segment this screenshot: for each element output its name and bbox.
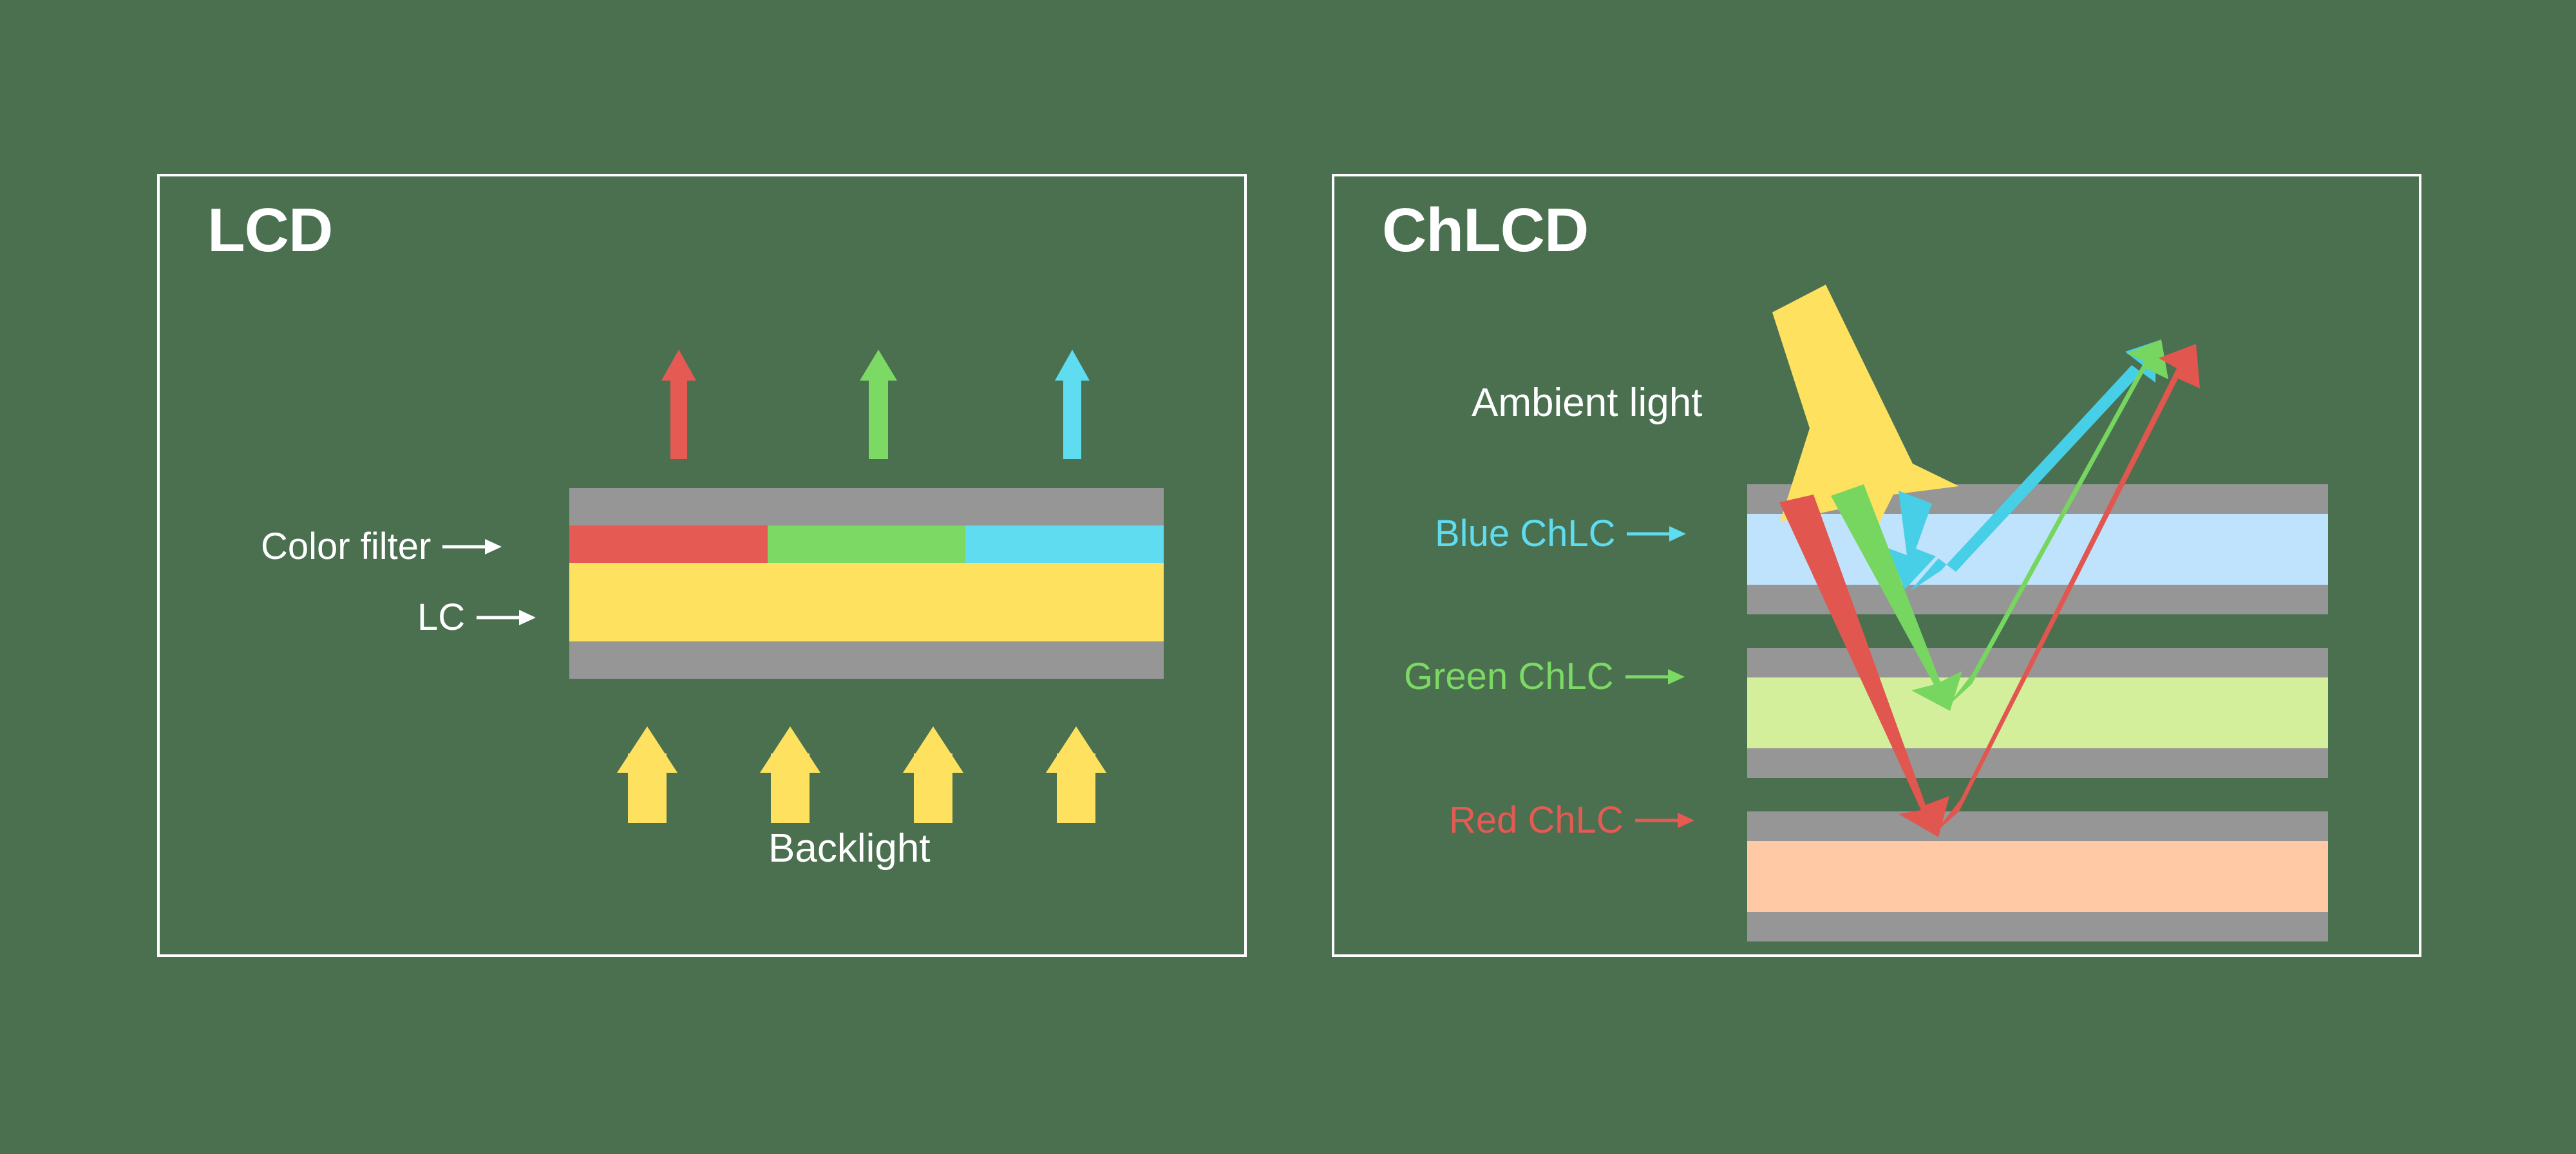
- label-red-chlc-text: Red ChLC: [1449, 802, 1624, 839]
- arrow-line: [477, 616, 519, 620]
- blue-chlc-layer: [1747, 514, 2328, 585]
- label-color-filter: Color filter: [261, 528, 502, 565]
- electrode-bottom: [1747, 585, 2328, 614]
- pointer-arrow-icon: [1625, 671, 1685, 683]
- panel-title-lcd: LCD: [207, 200, 332, 261]
- label-blue-chlc: Blue ChLC: [1435, 515, 1686, 553]
- electrode-top: [1747, 484, 2328, 514]
- backlight-arrow: [1046, 726, 1106, 823]
- arrow-shaft: [628, 753, 667, 823]
- chlcd-cell-green: [1747, 648, 2328, 778]
- pointer-arrow-icon: [1635, 815, 1694, 826]
- backlight-arrow: [617, 726, 677, 823]
- arrow-line: [1625, 676, 1668, 679]
- arrow-line: [1627, 533, 1669, 536]
- arrow-head-icon: [1678, 813, 1694, 828]
- label-red-chlc: Red ChLC: [1449, 802, 1694, 839]
- arrow-line: [1635, 819, 1678, 822]
- label-backlight: Backlight: [768, 826, 931, 871]
- arrow-shaft: [670, 378, 687, 459]
- arrow-head-icon: [860, 350, 897, 381]
- arrow-shaft: [1057, 753, 1095, 823]
- label-lc-text: LC: [417, 599, 465, 636]
- electrode-top: [1747, 648, 2328, 677]
- green-chlc-layer: [1747, 677, 2328, 748]
- pointer-arrow-icon: [442, 541, 502, 553]
- chlcd-cell-blue: [1747, 484, 2328, 614]
- panel-title-chlcd: ChLCD: [1382, 200, 1588, 261]
- label-color-filter-text: Color filter: [261, 528, 431, 565]
- electrode-top: [1747, 811, 2328, 841]
- arrow-head-icon: [1055, 350, 1090, 381]
- color-filter-blue-segment: [965, 525, 1164, 563]
- lcd-layer-stack: [569, 488, 1164, 679]
- label-green-chlc: Green ChLC: [1404, 658, 1685, 695]
- lcd-color-filter-layer: [569, 525, 1164, 563]
- chlcd-layer-stack: [1747, 484, 2328, 864]
- lcd-liquid-crystal-layer: [569, 563, 1164, 641]
- color-filter-green-segment: [768, 525, 966, 563]
- emitted-red-light-arrow: [661, 350, 696, 459]
- arrow-shaft: [1063, 378, 1081, 459]
- pointer-arrow-icon: [1627, 528, 1686, 540]
- lcd-top-electrode-layer: [569, 488, 1164, 525]
- label-lc: LC: [417, 599, 536, 636]
- label-ambient-light: Ambient light: [1472, 380, 1702, 426]
- backlight-arrow: [760, 726, 820, 823]
- chlcd-cell-red: [1747, 811, 2328, 941]
- arrow-head-icon: [519, 610, 536, 625]
- arrow-shaft: [771, 753, 810, 823]
- arrow-shaft: [914, 753, 952, 823]
- arrow-head-icon: [485, 539, 502, 554]
- color-filter-red-segment: [569, 525, 768, 563]
- electrode-bottom: [1747, 748, 2328, 778]
- label-green-chlc-text: Green ChLC: [1404, 658, 1614, 695]
- pointer-arrow-icon: [477, 612, 536, 623]
- lcd-bottom-electrode-layer: [569, 641, 1164, 679]
- electrode-bottom: [1747, 912, 2328, 941]
- diagram-stage: LCD Color filter LC: [0, 0, 2576, 1154]
- arrow-shaft: [869, 378, 888, 459]
- backlight-arrow: [903, 726, 963, 823]
- emitted-blue-light-arrow: [1055, 350, 1090, 459]
- emitted-green-light-arrow: [860, 350, 897, 459]
- arrow-line: [442, 545, 485, 549]
- red-chlc-layer: [1747, 841, 2328, 912]
- arrow-head-icon: [661, 350, 696, 381]
- arrow-head-icon: [1669, 526, 1686, 542]
- arrow-head-icon: [1668, 669, 1685, 685]
- label-blue-chlc-text: Blue ChLC: [1435, 515, 1615, 553]
